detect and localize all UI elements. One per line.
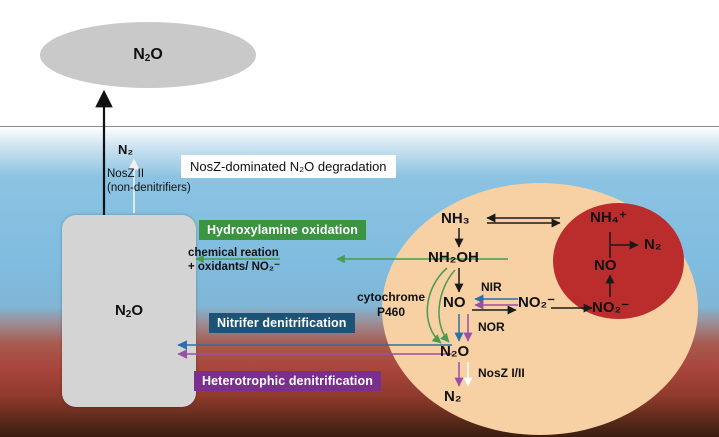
label-hydroxylamine-oxidation: Hydroxylamine oxidation bbox=[199, 220, 366, 240]
species-no2-cytoplasm: NO₂⁻ bbox=[518, 295, 555, 310]
species-no-nucleus: NO bbox=[594, 258, 617, 273]
n2-escape-label: N₂ bbox=[118, 142, 133, 158]
label-heterotrophic-denitrification: Heterotrophic denitrification bbox=[194, 371, 381, 391]
chemical-reaction-note: chemical reation + oxidants/ NO₂⁻ bbox=[188, 246, 280, 275]
label-nitrifier-denitrification: Nitrifer denitrification bbox=[209, 313, 355, 333]
label-nosz-degradation: NosZ-dominated N₂O degradation bbox=[181, 155, 396, 178]
species-nh2oh: NH₂OH bbox=[428, 250, 479, 265]
soil-surface-divider bbox=[0, 126, 719, 127]
soil-n2o-pool: N2O bbox=[62, 215, 196, 407]
soil-n2o-label: N2O bbox=[62, 302, 196, 320]
species-n2o-cell: N₂O bbox=[440, 344, 469, 359]
enzyme-cytochrome-p460: cytochrome P460 bbox=[357, 290, 425, 320]
species-n2-cell: N₂ bbox=[444, 389, 462, 404]
species-no2-nucleus: NO₂⁻ bbox=[592, 300, 629, 315]
figure-canvas: N2O N2O bbox=[0, 0, 719, 437]
nosz2-note: NosZ II (non-denitrifiers) bbox=[107, 168, 191, 196]
enzyme-nosz-i-ii: NosZ I/II bbox=[478, 367, 525, 381]
enzyme-nir: NIR bbox=[481, 281, 502, 295]
species-nh4-nucleus: NH₄⁺ bbox=[590, 210, 627, 225]
atmospheric-n2o-pool: N2O bbox=[40, 22, 256, 88]
enzyme-nor: NOR bbox=[478, 321, 505, 335]
species-nh3: NH₃ bbox=[441, 211, 470, 226]
species-no: NO bbox=[443, 295, 466, 310]
species-n2-nucleus: N₂ bbox=[644, 237, 662, 252]
atmospheric-n2o-label: N2O bbox=[40, 46, 256, 64]
